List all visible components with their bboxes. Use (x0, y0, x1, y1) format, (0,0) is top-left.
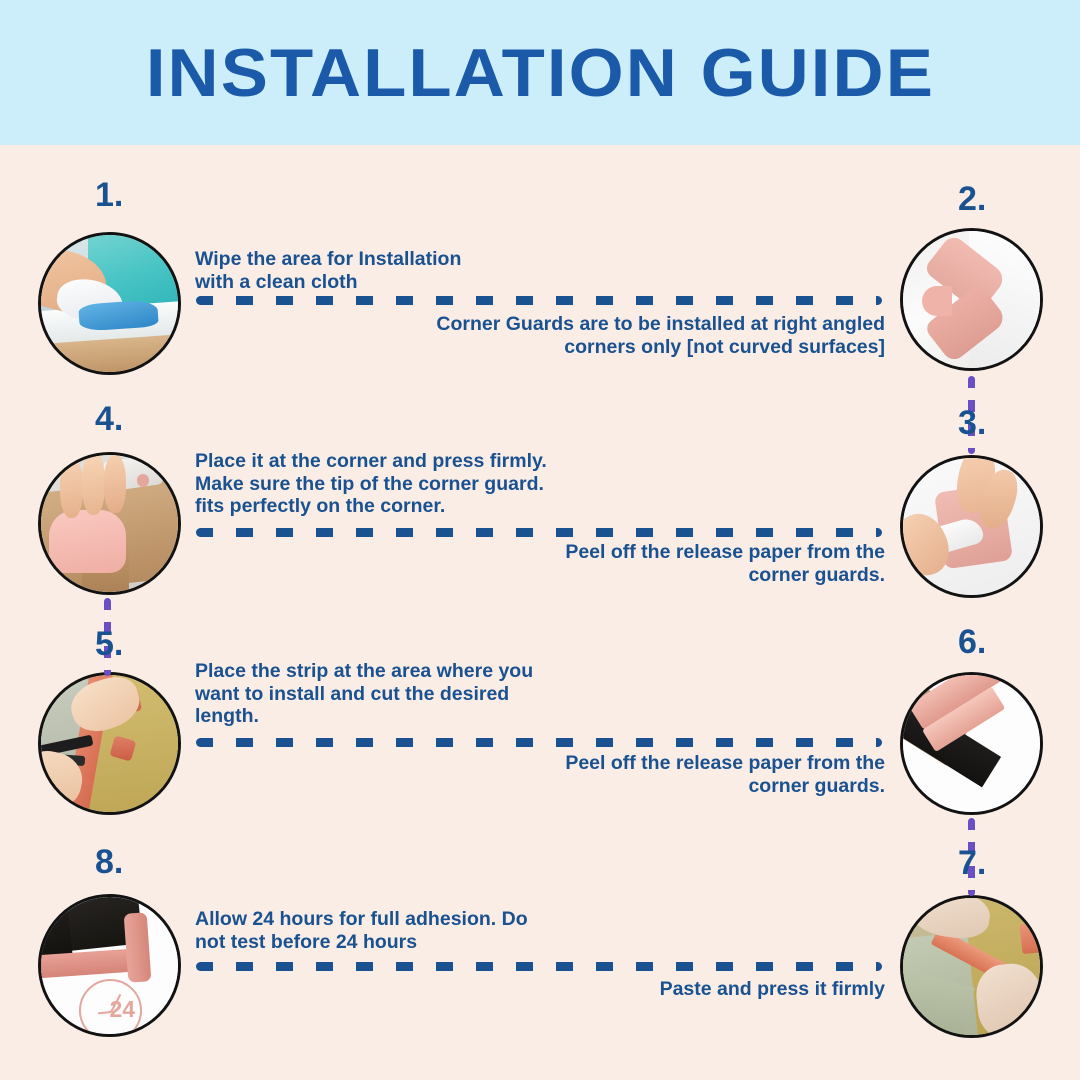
hand-pressing-guard-on-table-corner-image (41, 455, 178, 592)
step-caption-7-line1: Paste and press it firmly (430, 978, 885, 1001)
step-photo-8: 24 (38, 894, 181, 1037)
step-caption-7: Paste and press it firmly (430, 978, 885, 1001)
step-caption-6-line2: corner guards. (430, 775, 885, 798)
step-number-6: 6. (958, 625, 986, 659)
step-caption-4-line1: Place it at the corner and press firmly. (195, 450, 625, 473)
hands-pressing-strip-on-wall-corner-image (903, 898, 1040, 1035)
step-caption-8-line1: Allow 24 hours for full adhesion. Do (195, 908, 625, 931)
step-caption-5-line3: length. (195, 705, 615, 728)
step-caption-3-line1: Peel off the release paper from the (430, 541, 885, 564)
pink-corner-guard-chevron-image (903, 231, 1040, 368)
step-photo-2 (900, 228, 1043, 371)
step-caption-1-line2: with a clean cloth (195, 271, 615, 294)
step-photo-1 (38, 232, 181, 375)
step-caption-5-line2: want to install and cut the desired (195, 683, 615, 706)
step-caption-8: Allow 24 hours for full adhesion. Do not… (195, 908, 625, 953)
step-number-5: 5. (95, 627, 123, 661)
step-caption-6: Peel off the release paper from the corn… (430, 752, 885, 797)
step-caption-6-line1: Peel off the release paper from the (430, 752, 885, 775)
hands-peeling-release-paper-image (903, 458, 1040, 595)
step-number-1: 1. (95, 178, 123, 212)
step-caption-3: Peel off the release paper from the corn… (430, 541, 885, 586)
divider-dashed-1 (196, 296, 882, 305)
step-caption-8-line2: not test before 24 hours (195, 931, 625, 954)
step-caption-2-line1: Corner Guards are to be installed at rig… (380, 313, 885, 336)
step-photo-4 (38, 452, 181, 595)
gloved-hand-wiping-counter-image (41, 235, 178, 372)
step-caption-4-line3: fits perfectly on the corner. (195, 495, 625, 518)
step-caption-5-line1: Place the strip at the area where you (195, 660, 615, 683)
divider-dashed-3 (196, 738, 882, 747)
step-number-8: 8. (95, 845, 123, 879)
step-caption-1: Wipe the area for Installation with a cl… (195, 248, 615, 293)
divider-dashed-2 (196, 528, 882, 537)
header-band: INSTALLATION GUIDE (0, 0, 1080, 145)
step-number-4: 4. (95, 402, 123, 436)
step-photo-5 (38, 672, 181, 815)
step-caption-2-line2: corners only [not curved surfaces] (380, 336, 885, 359)
step-caption-4-line2: Make sure the tip of the corner guard. (195, 473, 625, 496)
step-photo-6 (900, 672, 1043, 815)
step-photo-3 (900, 455, 1043, 598)
step-photo-7 (900, 895, 1043, 1038)
step-number-7: 7. (958, 846, 986, 880)
step-caption-2: Corner Guards are to be installed at rig… (380, 313, 885, 358)
step-caption-5: Place the strip at the area where you wa… (195, 660, 615, 728)
step-caption-1-line1: Wipe the area for Installation (195, 248, 615, 271)
step-number-2: 2. (958, 182, 986, 216)
installed-guard-with-24h-clock-image: 24 (41, 897, 178, 1034)
page-title: INSTALLATION GUIDE (145, 34, 934, 112)
pink-strip-on-black-edge-image (903, 675, 1040, 812)
step-caption-4: Place it at the corner and press firmly.… (195, 450, 625, 518)
divider-dashed-4 (196, 962, 882, 971)
step-caption-3-line2: corner guards. (430, 564, 885, 587)
clock-24-label: 24 (110, 996, 136, 1023)
step-number-3: 3. (958, 406, 986, 440)
hands-cutting-strip-with-scissors-image (41, 675, 178, 812)
